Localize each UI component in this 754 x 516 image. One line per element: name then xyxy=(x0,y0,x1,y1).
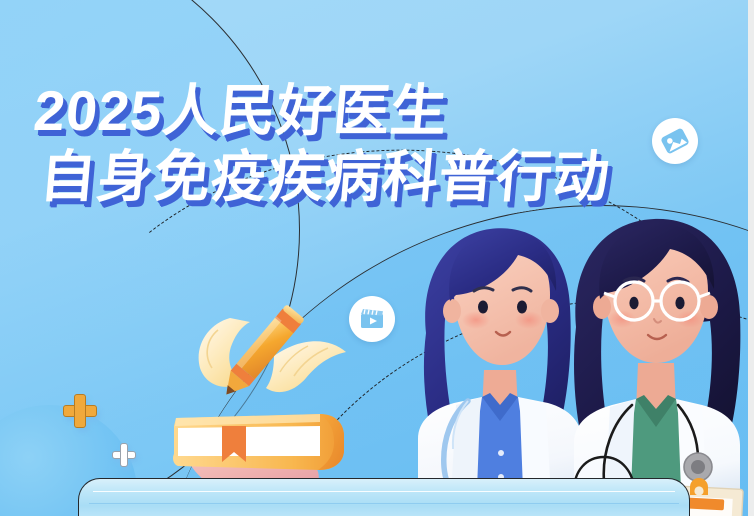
panel-highlight-line xyxy=(93,491,675,492)
plus-decor-small xyxy=(112,443,136,467)
headline-line-1: 2025人民好医生 xyxy=(31,78,613,144)
image-badge[interactable] xyxy=(652,118,698,164)
video-badge[interactable] xyxy=(349,296,395,342)
doctor-right xyxy=(574,219,743,516)
plus-icon xyxy=(74,394,86,428)
doctor-left-ear xyxy=(443,299,461,323)
bottom-desk-panel xyxy=(78,478,690,516)
doctor-left-ear xyxy=(541,299,559,323)
panel-shadow-line xyxy=(89,503,679,504)
headline: 2025人民好医生 自身免疫疾病科普行动 xyxy=(34,78,610,210)
image-icon xyxy=(660,126,690,156)
plus-icon xyxy=(120,443,128,467)
doctor-left-shirt-button xyxy=(498,450,504,456)
doctor-right-eye xyxy=(629,297,638,309)
doctor-right-eye xyxy=(675,297,684,309)
video-clapperboard-icon xyxy=(357,304,387,334)
doctor-left-cheek xyxy=(462,311,490,329)
plus-decor-large xyxy=(63,394,97,428)
doctor-right-ear xyxy=(593,295,611,319)
headline-line-2: 自身免疫疾病科普行动 xyxy=(37,144,613,210)
book-illustration xyxy=(170,408,350,474)
doctor-left xyxy=(418,228,582,516)
doctor-left-cheek xyxy=(515,311,543,329)
doctors-illustration xyxy=(398,215,754,516)
campaign-banner: 2025人民好医生 自身免疫疾病科普行动 xyxy=(0,0,754,516)
book-pages xyxy=(178,426,320,456)
winged-pencil-illustration xyxy=(178,300,358,420)
